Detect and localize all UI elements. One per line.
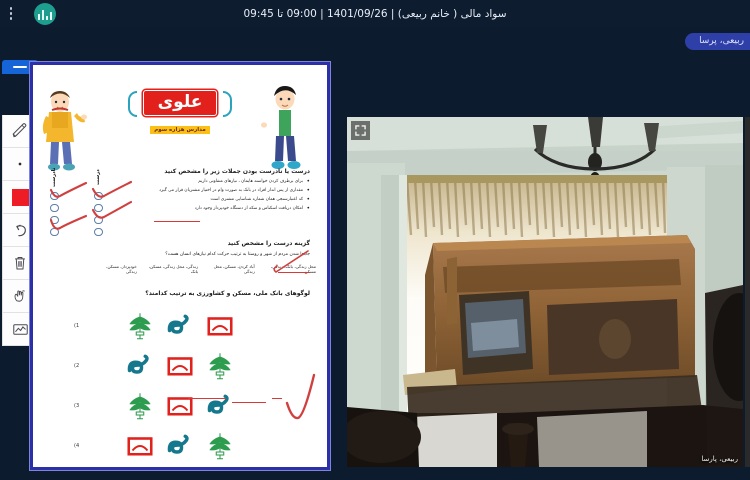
melli-bank-logo-icon xyxy=(125,351,155,381)
pencil-icon xyxy=(11,122,29,140)
list-item: کد اعتبارسنجی همان شماره شناسایی مشتری ا… xyxy=(135,198,310,203)
table-row[interactable]: 2) xyxy=(36,346,324,386)
maskan-bank-logo-icon xyxy=(205,311,235,341)
expand-icon[interactable] xyxy=(351,121,370,140)
kebab-dot xyxy=(10,17,13,20)
school-logo: علوی مدارس هزاره سوم xyxy=(132,90,228,135)
list-item: مقداری از پس انداز افراد در بانک به صورت… xyxy=(135,189,310,194)
page-title: سواد مالی ( خانم ربیعی) | 1401/09/26 | 0… xyxy=(0,0,750,27)
keshavarzi-bank-logo-icon xyxy=(205,351,235,381)
answer-column-true: درست xyxy=(94,166,103,240)
answer-column-false: نادرست xyxy=(50,166,59,240)
answer-circle[interactable] xyxy=(50,228,59,237)
row-number: 3) xyxy=(74,403,79,409)
melli-bank-logo-icon xyxy=(165,311,195,341)
table-row[interactable]: 3) xyxy=(36,386,324,426)
participant-chip[interactable]: ربیعی، پرسا xyxy=(685,33,750,50)
maskan-bank-logo-icon xyxy=(165,391,195,421)
melli-bank-logo-icon xyxy=(205,391,235,421)
logo-arc-left-icon xyxy=(128,91,137,117)
kebab-menu-icon[interactable] xyxy=(0,0,22,27)
line-chart-icon xyxy=(11,320,30,339)
expand-arrows-icon xyxy=(355,125,366,136)
keshavarzi-bank-logo-icon xyxy=(125,311,155,341)
column-header-true: درست xyxy=(95,166,101,188)
section1-heading: درست یا نادرست بودن جملات زیر را مشخص کن… xyxy=(164,168,310,175)
ink-underline xyxy=(232,402,266,403)
student-illustration-left xyxy=(38,88,88,174)
section1-bullet-list: برای برطرف کردن خواسته هایمان ، نیازهای … xyxy=(135,180,310,217)
section2-heading: گزینه درست را مشخص کنید xyxy=(228,240,310,247)
participant-chip-row: ربیعی، پرسا xyxy=(0,30,750,52)
answer-circle[interactable] xyxy=(94,228,103,237)
option-item[interactable]: زندگی، محل زندگی، مسکن، بانک xyxy=(143,264,198,274)
ink-underline xyxy=(272,398,282,399)
answer-circle[interactable] xyxy=(50,204,59,213)
row-number: 2) xyxy=(74,363,79,369)
answer-circle[interactable] xyxy=(94,216,103,225)
undo-arrow-icon xyxy=(11,221,30,240)
row-number: 4) xyxy=(74,443,79,449)
option-item[interactable]: آباد کردن، مسکن، محل زندگی xyxy=(204,264,255,274)
table-row[interactable]: 4) xyxy=(36,426,324,464)
ink-underline xyxy=(154,221,200,222)
melli-bank-logo-icon xyxy=(165,431,195,461)
school-logo-subtitle: مدارس هزاره سوم xyxy=(150,126,209,134)
whiteboard-canvas[interactable]: علوی مدارس هزاره سوم درست یا نادرست بودن… xyxy=(30,62,330,470)
maskan-bank-logo-icon xyxy=(165,351,195,381)
worksheet-page: علوی مدارس هزاره سوم درست یا نادرست بودن… xyxy=(36,68,324,464)
logo-arc-right-icon xyxy=(223,91,232,117)
student-illustration-right xyxy=(260,84,308,176)
trash-icon xyxy=(11,254,29,272)
section3-option-rows: 1) 2) xyxy=(36,306,324,464)
answer-circle[interactable] xyxy=(94,192,103,201)
video-participant-name: ربیعی، پارسا xyxy=(701,455,738,463)
kebab-dot xyxy=(10,12,13,15)
list-item: امکان دریافت اسکناس و سکه از دستگاه خودپ… xyxy=(135,207,310,212)
bar xyxy=(50,12,53,20)
maskan-bank-logo-icon xyxy=(125,431,155,461)
bar xyxy=(42,10,45,20)
column-header-false: نادرست xyxy=(51,166,57,188)
list-item: برای برطرف کردن خواسته هایمان ، نیازهای … xyxy=(135,180,310,185)
section3-heading: لوگوهای بانک ملی، مسکن و کشاورزی به ترتی… xyxy=(145,290,310,297)
color-square-icon xyxy=(12,189,29,206)
option-item[interactable]: خودپرداز، مسکن، زندگی xyxy=(96,264,137,274)
kebab-dot xyxy=(10,7,13,10)
answer-circle[interactable] xyxy=(50,216,59,225)
bar xyxy=(46,16,49,20)
hand-icon xyxy=(11,287,29,305)
keshavarzi-bank-logo-icon xyxy=(205,431,235,461)
row-number: 1) xyxy=(74,323,79,329)
video-tile[interactable]: ربیعی، پارسا xyxy=(347,117,743,467)
ink-check-mark-selected xyxy=(284,373,318,425)
dot-icon xyxy=(11,155,29,173)
minus-icon xyxy=(13,66,27,68)
school-logo-name: علوی xyxy=(143,90,218,116)
answer-circle[interactable] xyxy=(50,192,59,201)
bar-chart-icon[interactable] xyxy=(34,3,56,25)
webcam-feed xyxy=(347,117,743,467)
ink-underline xyxy=(278,272,310,273)
adjacent-video-tile-edge[interactable] xyxy=(745,117,750,467)
answer-circle[interactable] xyxy=(94,204,103,213)
bar xyxy=(38,14,41,20)
keshavarzi-bank-logo-icon xyxy=(125,391,155,421)
ink-underline xyxy=(188,398,226,399)
table-row[interactable]: 1) xyxy=(36,306,324,346)
top-bar: سواد مالی ( خانم ربیعی) | 1401/09/26 | 0… xyxy=(0,0,750,27)
